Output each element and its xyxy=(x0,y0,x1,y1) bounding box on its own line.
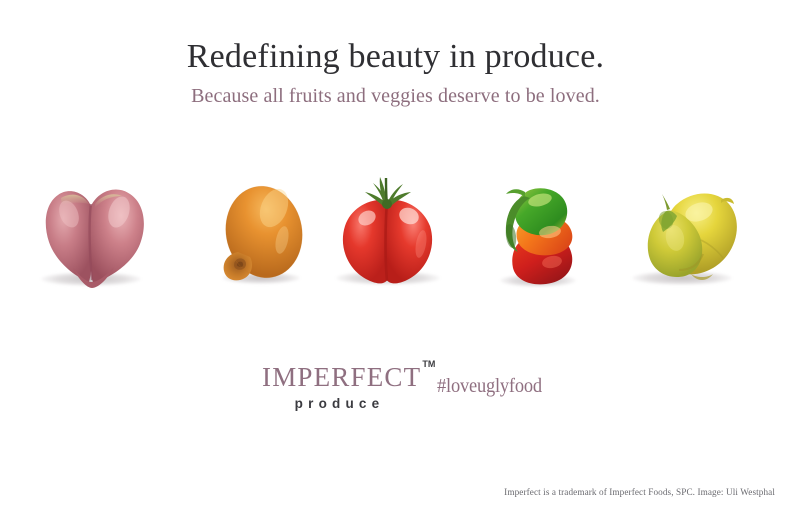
navel-orange-icon xyxy=(196,170,326,290)
logo-wordmark: IMPERFECTTM xyxy=(262,364,434,391)
brand-lockup: IMPERFECTTM produce #loveuglyfood xyxy=(0,364,791,424)
imperfect-produce-logo[interactable]: IMPERFECTTM produce xyxy=(262,364,412,411)
conjoined-lemon-icon xyxy=(617,170,747,290)
page-subtitle: Because all fruits and veggies deserve t… xyxy=(0,83,791,109)
produce-item-conjoined-lemon xyxy=(617,168,747,296)
hashtag: #loveuglyfood xyxy=(437,375,542,398)
page-title: Redefining beauty in produce. xyxy=(0,36,791,77)
produce-item-navel-orange xyxy=(196,168,326,296)
double-lobed-tomato-icon xyxy=(323,170,453,290)
produce-item-heart-shaped-potato xyxy=(29,168,159,296)
logo-wordmark-text: IMPERFECT xyxy=(262,362,421,392)
logo-subword: produce xyxy=(262,397,412,411)
headline-block: Redefining beauty in produce. Because al… xyxy=(0,36,791,109)
produce-item-double-lobed-tomato xyxy=(323,168,453,296)
heart-shaped-potato-icon xyxy=(29,170,159,290)
poster-canvas: Redefining beauty in produce. Because al… xyxy=(0,0,791,511)
footer-credit: Imperfect is a trademark of Imperfect Fo… xyxy=(504,487,775,497)
tricolor-bell-pepper-icon xyxy=(478,170,608,290)
produce-row xyxy=(0,168,791,296)
trademark-symbol: TM xyxy=(422,359,435,369)
produce-item-tricolor-bell-pepper xyxy=(478,168,608,296)
